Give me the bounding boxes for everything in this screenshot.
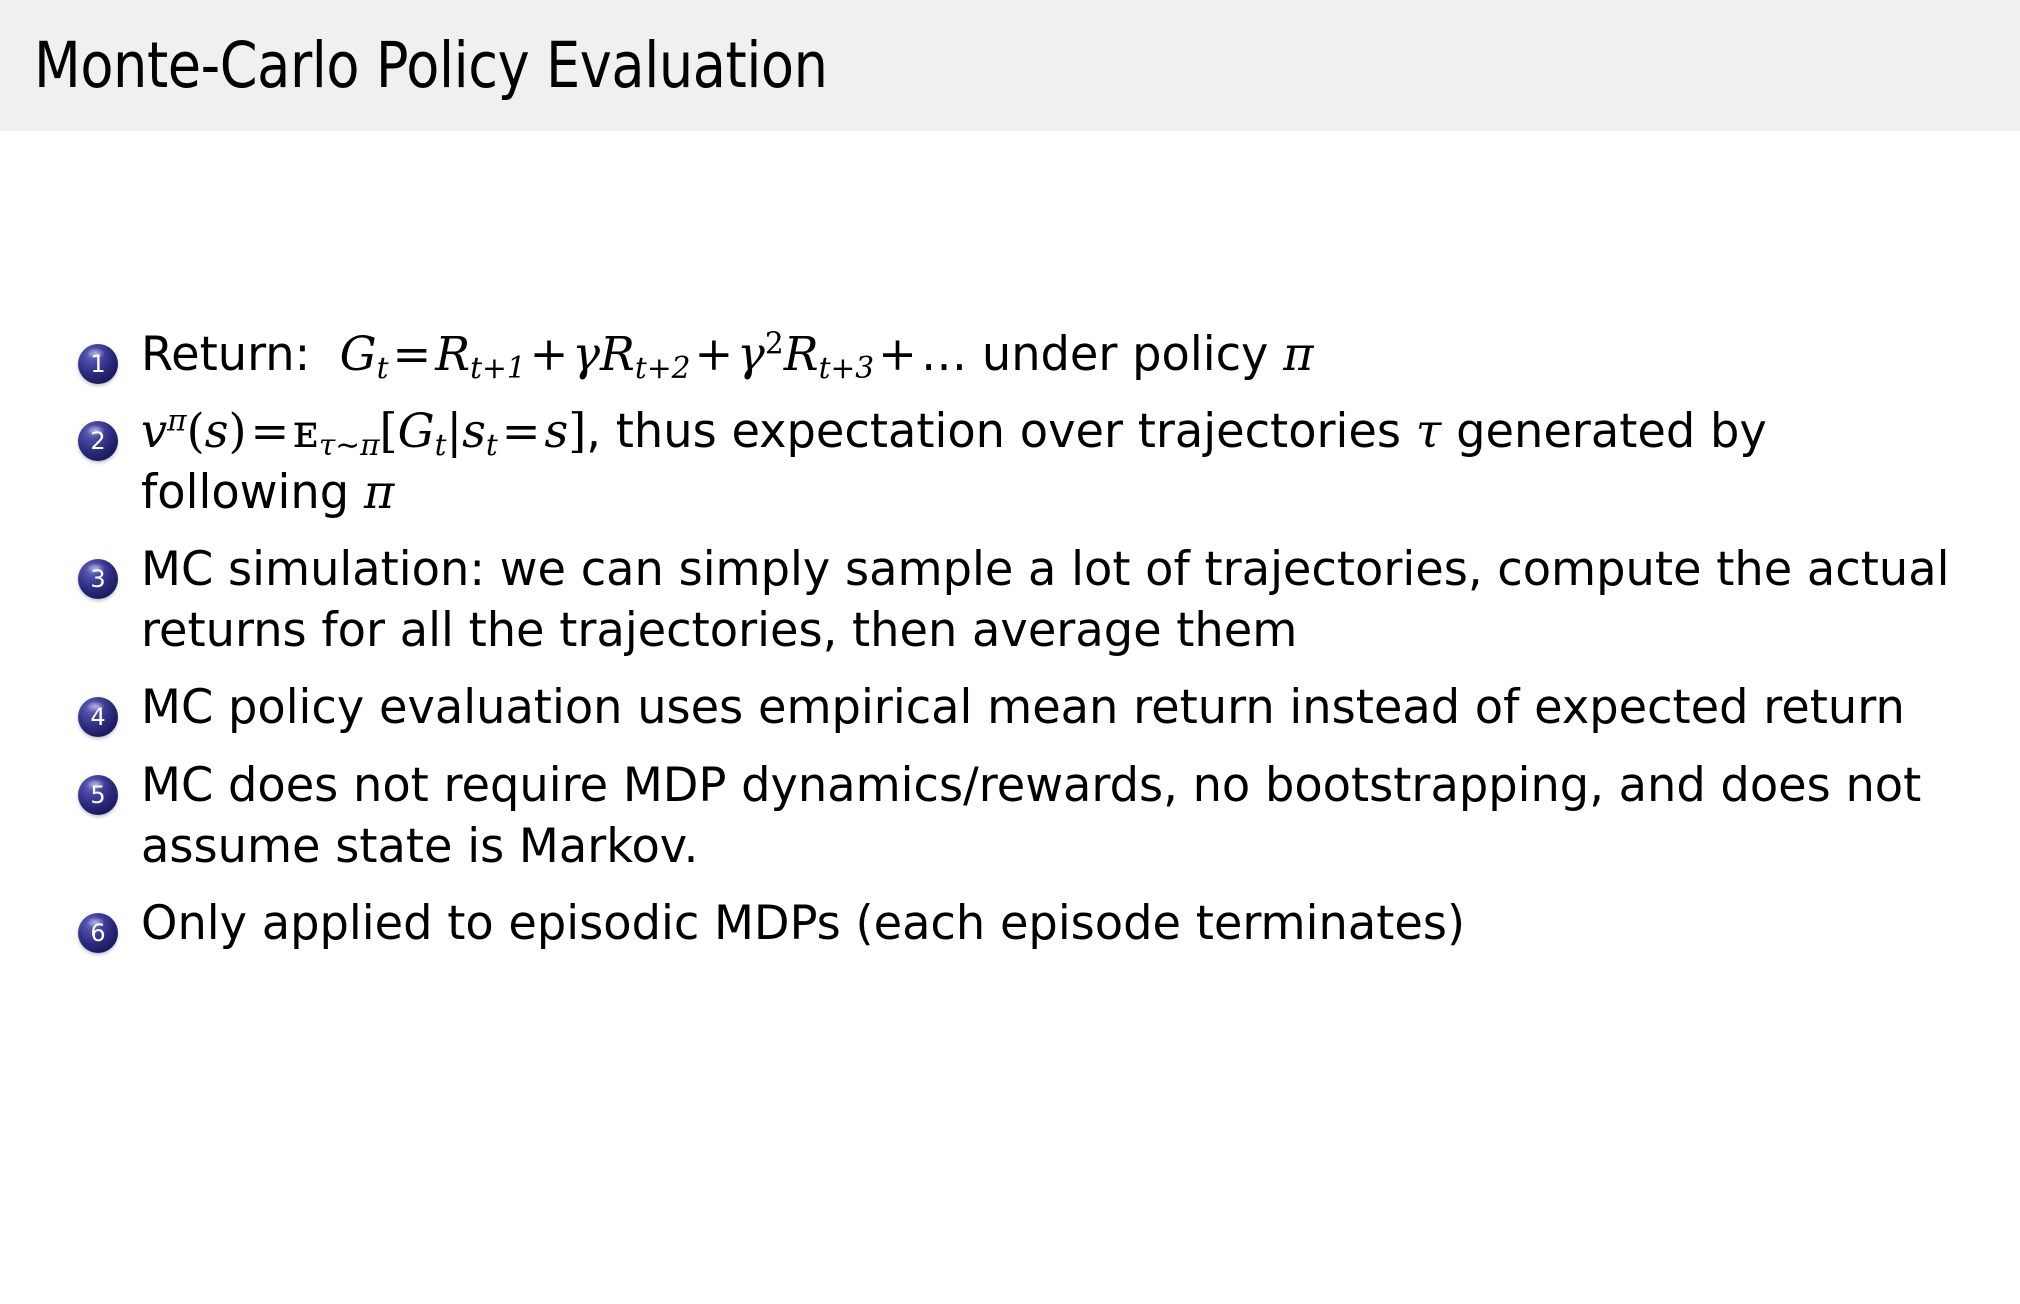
enumerate-ball-number: 4 (90, 705, 105, 729)
item1-tail: under policy (982, 327, 1269, 382)
slide: Monte-Carlo Policy Evaluation 1 Return: … (0, 0, 2020, 1304)
slide-body: 1 Return: Gt=Rt+1+γRt+2+γ2Rt+3+… under p… (0, 131, 2020, 1304)
list-item-text: MC does not require MDP dynamics/rewards… (141, 755, 1950, 877)
item2-formula: vπ(s)=ᴇτ∼π[Gt|st=s], (141, 404, 616, 459)
list-item: 5 MC does not require MDP dynamics/rewar… (78, 755, 1978, 877)
enumerate-ball-number: 2 (90, 429, 105, 453)
enumerate-ball-icon: 1 (78, 344, 118, 384)
item2-tail-symbol: τ (1416, 404, 1442, 459)
enumerate-ball-icon: 5 (78, 775, 118, 815)
enumerate-ball-number: 6 (90, 921, 105, 945)
item2-tail: thus expectation over trajectories (616, 404, 1401, 459)
list-item: 2 vπ(s)=ᴇτ∼π[Gt|st=s], thus expectation … (78, 401, 1978, 523)
item1-tail-symbol: π (1283, 327, 1313, 382)
item1-lead: Return: (141, 327, 310, 382)
page-title: Monte-Carlo Policy Evaluation (34, 34, 828, 97)
item1-formula: Gt=Rt+1+γRt+2+γ2Rt+3+… (340, 327, 982, 382)
list-item-text: vπ(s)=ᴇτ∼π[Gt|st=s], thus expectation ov… (141, 401, 1950, 523)
enumerate-ball-number: 5 (90, 783, 105, 807)
item2-line2-symbol: π (364, 465, 394, 520)
slide-title-band: Monte-Carlo Policy Evaluation (0, 0, 2020, 131)
enumerate-ball-number: 3 (90, 567, 105, 591)
list-item: 3 MC simulation: we can simply sample a … (78, 539, 1978, 661)
enumerate-ball-icon: 4 (78, 697, 118, 737)
enumerate-ball-number: 1 (90, 352, 105, 376)
enumerated-list: 1 Return: Gt=Rt+1+γRt+2+γ2Rt+3+… under p… (78, 324, 1978, 970)
list-item: 4 MC policy evaluation uses empirical me… (78, 677, 1978, 738)
list-item-text: MC policy evaluation uses empirical mean… (141, 677, 1950, 738)
list-item: 6 Only applied to episodic MDPs (each ep… (78, 893, 1978, 954)
enumerate-ball-icon: 3 (78, 559, 118, 599)
list-item-text: Only applied to episodic MDPs (each epis… (141, 893, 1950, 954)
list-item-text: MC simulation: we can simply sample a lo… (141, 539, 1950, 661)
enumerate-ball-icon: 2 (78, 421, 118, 461)
list-item-text: Return: Gt=Rt+1+γRt+2+γ2Rt+3+… under pol… (141, 324, 1950, 385)
list-item: 1 Return: Gt=Rt+1+γRt+2+γ2Rt+3+… under p… (78, 324, 1978, 385)
enumerate-ball-icon: 6 (78, 913, 118, 953)
